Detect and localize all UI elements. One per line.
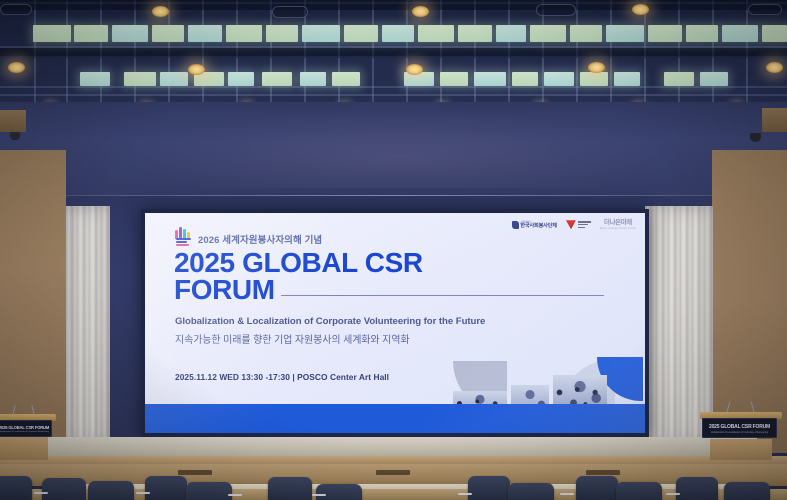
security-camera-right	[750, 133, 761, 142]
raised-hands-icon	[175, 227, 192, 247]
podium-sign-sub-left: Globalization & Localization of Corporat…	[0, 431, 49, 433]
chair	[0, 476, 32, 500]
slide-dateline: 2025.11.12 WED 13:30 -17:30 | POSCO Cent…	[175, 372, 389, 382]
chair	[616, 482, 662, 500]
ceiling	[0, 0, 787, 108]
podium-sign-left: 2025 GLOBAL CSR FORUM Globalization & Lo…	[0, 420, 52, 437]
chair	[145, 476, 187, 500]
podium-body-right	[710, 439, 772, 460]
chair	[186, 482, 232, 500]
ceiling-spotlight	[406, 64, 423, 75]
presentation-slide: 사단법인 한국사회봉사단체 더나은미래 Better Change, Bette…	[145, 213, 645, 433]
ceiling-fixture	[272, 6, 308, 18]
chair	[88, 481, 134, 500]
ceiling-spotlight	[766, 62, 783, 73]
podium-body-left	[0, 437, 48, 460]
auditorium-photo: 사단법인 한국사회봉사단체 더나은미래 Better Change, Bette…	[0, 0, 787, 500]
v-mark-logo	[566, 220, 591, 229]
slide-subtitle-en: Globalization & Localization of Corporat…	[175, 316, 485, 327]
slide-subtitle-ko: 지속가능한 미래를 향한 기업 자원봉사의 세계화와 지역화	[175, 331, 409, 346]
ceiling-fixture	[0, 4, 32, 15]
kv-logo-text: 한국사회봉사단체	[520, 224, 557, 229]
chair-armrest	[228, 494, 242, 496]
chair	[724, 482, 770, 500]
ceiling-spotlight	[188, 64, 205, 75]
security-camera-left	[10, 132, 20, 140]
ceiling-fixture	[748, 4, 782, 15]
slide-title-line1: 2025 GLOBAL CSR	[174, 249, 604, 276]
wall-panel-right	[712, 150, 787, 453]
better-future-logo: 더나은미래 Better Change, Better Future	[600, 220, 636, 230]
chair-armrest	[312, 494, 326, 496]
stage-curtain-right	[645, 206, 713, 446]
chair	[268, 477, 312, 500]
kv-logo-mark	[512, 221, 519, 229]
ceiling-spotlight	[412, 6, 429, 17]
chair-armrest	[34, 492, 48, 494]
eyebrow-row: 2026 세계자원봉사자의해 기념	[175, 227, 322, 247]
chair-armrest	[560, 493, 574, 495]
podium-sign-title-right: 2025 GLOBAL CSR FORUM	[709, 424, 770, 430]
slide-eyebrow: 2026 세계자원봉사자의해 기념	[198, 232, 322, 247]
chair-armrest	[666, 493, 680, 495]
chair	[42, 478, 86, 500]
chair-armrest	[136, 492, 150, 494]
slide-footer-bar	[145, 404, 645, 433]
chair	[676, 477, 718, 500]
slide-title-line2: FORUM	[174, 276, 275, 303]
wall-speaker-left	[0, 110, 26, 132]
sponsor-logo-row: 사단법인 한국사회봉사단체 더나은미래 Better Change, Bette…	[512, 220, 636, 230]
podium-right: 2025 GLOBAL CSR FORUM Globalization & Lo…	[700, 412, 782, 460]
podium-sign-right: 2025 GLOBAL CSR FORUM Globalization & Lo…	[702, 418, 777, 438]
wall-speaker-right	[762, 108, 787, 132]
hands-logo-bars	[176, 238, 191, 247]
projection-screen: 사단법인 한국사회봉사단체 더나은미래 Better Change, Bette…	[145, 213, 645, 433]
podium-sign-title-left: 2025 GLOBAL CSR FORUM	[0, 425, 49, 430]
chair	[576, 476, 618, 500]
projection-screen-frame: 사단법인 한국사회봉사단체 더나은미래 Better Change, Bette…	[141, 209, 649, 437]
bf-logo-text: 더나은미래	[600, 220, 636, 227]
ceiling-spotlight	[588, 62, 605, 73]
podium-sign-sub-right: Globalization & Localization of Corporat…	[711, 431, 768, 434]
wall-light-glow	[120, 108, 680, 188]
auditorium-seating	[0, 472, 787, 500]
ceiling-spotlight	[8, 62, 25, 73]
ceiling-spotlight	[632, 4, 649, 15]
v-logo-lines	[578, 221, 591, 228]
chair	[508, 483, 554, 500]
podium-left: 2025 GLOBAL CSR FORUM Globalization & Lo…	[0, 414, 56, 460]
ceiling-spotlight	[152, 6, 169, 17]
chair	[316, 484, 362, 500]
v-mark-icon	[566, 220, 576, 229]
bf-logo-sub: Better Change, Better Future	[600, 227, 636, 230]
chair-armrest	[458, 493, 472, 495]
slide-title: 2025 GLOBAL CSR FORUM	[174, 249, 604, 303]
ceiling-fixture	[536, 4, 576, 16]
stage-curtain-left	[66, 206, 110, 446]
korea-volunteer-center-logo: 사단법인 한국사회봉사단체	[512, 221, 557, 229]
chair	[468, 476, 510, 500]
title-underline-rule	[281, 295, 604, 296]
